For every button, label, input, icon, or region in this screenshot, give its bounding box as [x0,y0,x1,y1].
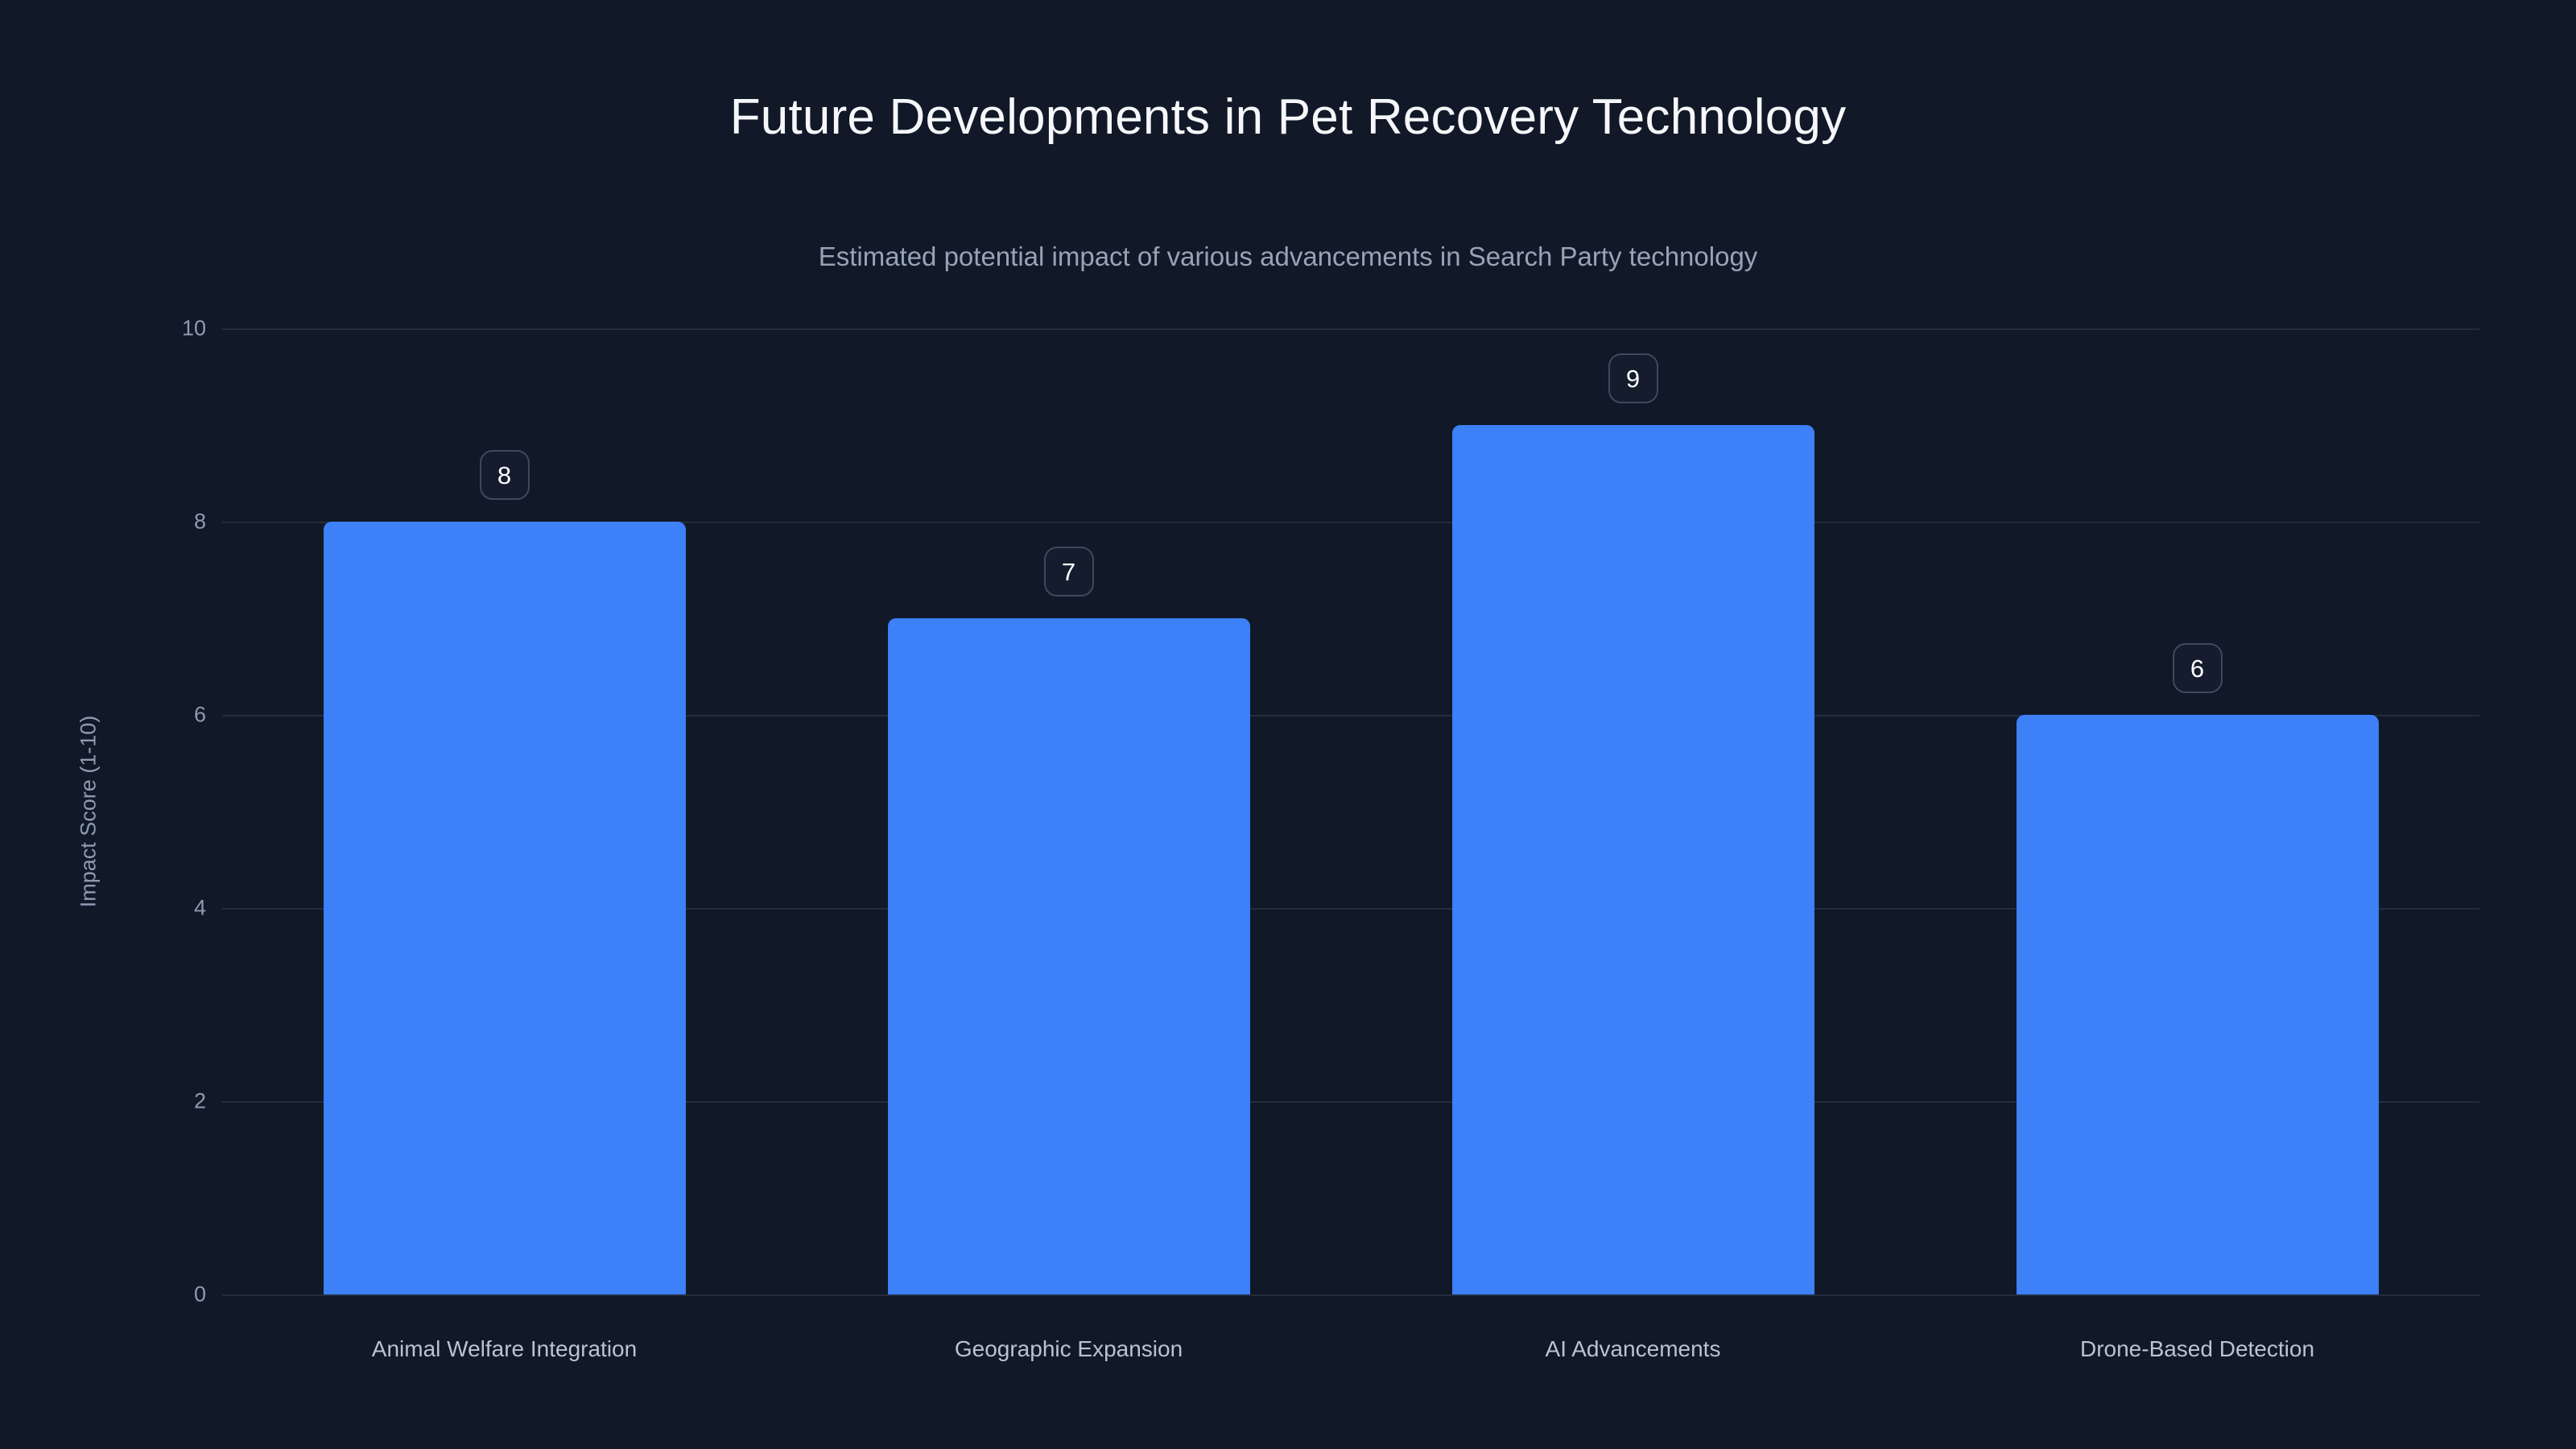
bar-value-badge: 7 [1044,547,1094,597]
y-axis-tick-label: 10 [85,316,206,341]
bar-value-badge: 6 [2173,643,2223,693]
gridline [222,1294,2479,1296]
chart-title: Future Developments in Pet Recovery Tech… [0,89,2576,146]
bar-value-badge: 9 [1608,353,1658,403]
bar[interactable] [324,522,686,1294]
plot-area [222,328,2479,1294]
x-axis-tick-label: Drone-Based Detection [2080,1336,2314,1362]
bar[interactable] [1452,425,1814,1294]
y-axis-tick-label: 2 [85,1089,206,1114]
y-axis-title: Impact Score (1-10) [76,716,101,908]
chart-figure: Future Developments in Pet Recovery Tech… [0,0,2576,1449]
gridline [222,328,2479,330]
x-axis-tick-label: Animal Welfare Integration [372,1336,637,1362]
y-axis-tick-label: 4 [85,896,206,921]
y-axis-tick-label: 0 [85,1282,206,1307]
bar[interactable] [888,618,1250,1294]
chart-subtitle: Estimated potential impact of various ad… [0,242,2576,272]
x-axis-tick-label: AI Advancements [1546,1336,1721,1362]
y-axis-tick-label: 6 [85,703,206,728]
bar[interactable] [2017,715,2379,1294]
bar-value-badge: 8 [480,450,530,500]
y-axis-tick-label: 8 [85,510,206,535]
x-axis-tick-label: Geographic Expansion [955,1336,1183,1362]
